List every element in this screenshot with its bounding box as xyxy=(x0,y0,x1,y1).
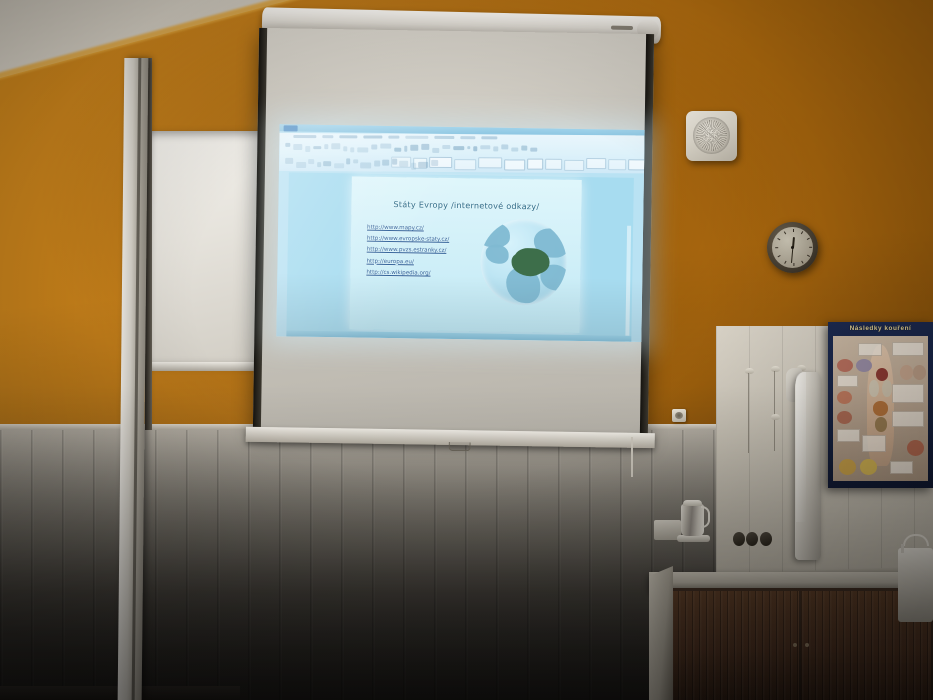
cabinet-knob[interactable] xyxy=(805,643,809,647)
cabinet-side-panel xyxy=(649,566,673,700)
clock-face xyxy=(772,227,813,268)
clock-minute-hand xyxy=(791,247,794,262)
poster-body xyxy=(833,336,928,481)
word-window[interactable]: Státy Evropy /internetové odkazy/ http:/… xyxy=(276,124,644,342)
link-list: http://www.mapy.cz/ http://www.evropske-… xyxy=(366,225,487,283)
cabinet[interactable] xyxy=(669,588,933,700)
link-item[interactable]: http://www.mapy.cz/ xyxy=(367,225,487,233)
screen-cord[interactable] xyxy=(631,437,633,477)
power-socket[interactable] xyxy=(672,409,686,422)
cabinet-door-left[interactable] xyxy=(671,591,799,700)
anti-smoking-poster: Následky kouření xyxy=(828,322,933,488)
cabinet-knob[interactable] xyxy=(793,643,797,647)
screen-edge-left xyxy=(253,28,267,430)
ribbon-controls-row-2[interactable] xyxy=(279,155,644,173)
ribbon-controls-row-1[interactable] xyxy=(279,141,644,157)
link-item[interactable]: http://www.pvzs.estranky.cz/ xyxy=(367,247,487,255)
wall-clock xyxy=(767,222,818,273)
faucet-spout xyxy=(901,544,904,553)
faucet[interactable] xyxy=(893,534,933,558)
poster-title: Následky kouření xyxy=(828,325,933,332)
rail-groove xyxy=(132,58,142,700)
sink-basin xyxy=(898,548,933,622)
ventilation-fan-icon xyxy=(686,111,737,161)
document-page-area: Státy Evropy /internetové odkazy/ http:/… xyxy=(286,172,633,335)
screen-casing-slot xyxy=(611,26,633,31)
faucet-neck xyxy=(903,534,929,546)
socket-holes xyxy=(675,412,683,419)
pull-down-projection-screen[interactable]: Státy Evropy /internetové odkazy/ http:/… xyxy=(243,12,663,437)
vertical-scrollbar[interactable] xyxy=(625,226,631,342)
slide-content: Státy Evropy /internetové odkazy/ http:/… xyxy=(349,176,581,333)
office-button[interactable] xyxy=(284,125,298,131)
word-ribbon[interactable] xyxy=(279,133,644,174)
sink-valve-handles[interactable] xyxy=(733,532,777,550)
classroom-photo: Státy Evropy /internetové odkazy/ http:/… xyxy=(0,0,933,700)
electric-kettle[interactable] xyxy=(679,500,708,542)
screen-pull-handle[interactable] xyxy=(449,442,471,451)
link-item[interactable]: http://europa.eu/ xyxy=(366,258,486,266)
link-item[interactable]: http://www.evropske-staty.cz/ xyxy=(367,236,487,244)
globe-icon xyxy=(480,218,567,305)
link-item[interactable]: http://cs.wikipedia.org/ xyxy=(366,269,486,277)
projected-image: Státy Evropy /internetové odkazy/ http:/… xyxy=(276,124,644,342)
hanging-towel xyxy=(795,372,821,560)
fan-grille xyxy=(693,117,730,154)
screen-fabric: Státy Evropy /internetové odkazy/ http:/… xyxy=(253,28,654,436)
slide-title: Státy Evropy /internetové odkazy/ xyxy=(351,198,581,212)
kettle-lid[interactable] xyxy=(683,500,702,506)
clock-center-pin xyxy=(791,246,794,249)
kettle-base xyxy=(677,535,710,542)
